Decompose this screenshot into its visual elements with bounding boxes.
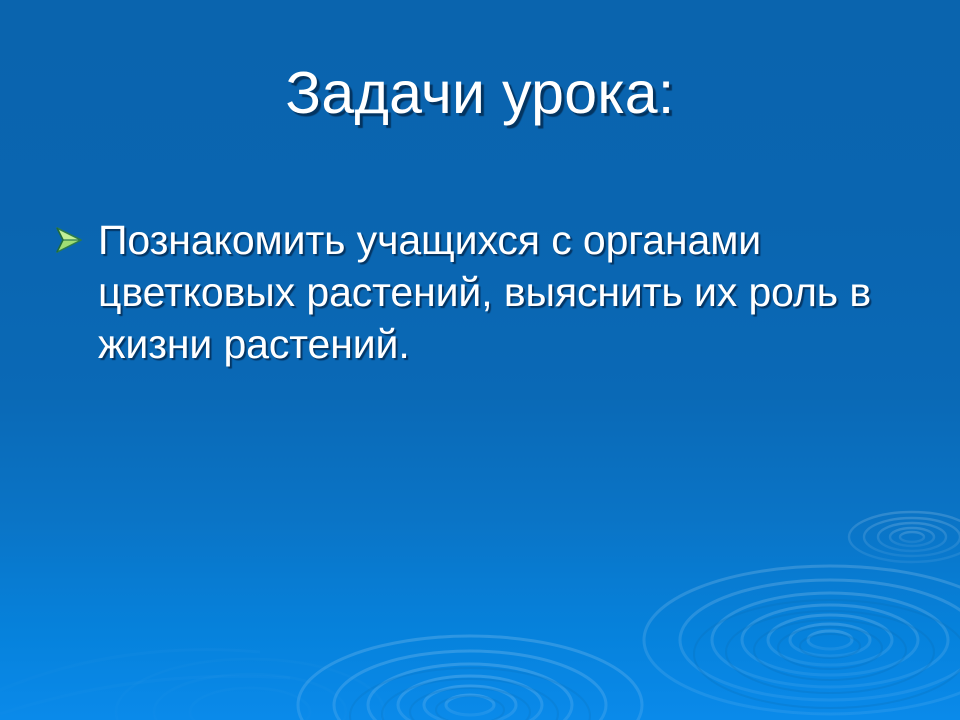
slide-title: Задачи урока: — [60, 62, 900, 125]
presentation-slide: Задачи урока: Познакомить учащихся с орг… — [0, 0, 960, 720]
slide-body: Познакомить учащихся с органами цветковы… — [54, 214, 914, 370]
green-arrowhead-bullet-icon — [54, 214, 98, 254]
list-item-label: Познакомить учащихся с органами цветковы… — [98, 214, 914, 370]
list-item: Познакомить учащихся с органами цветковы… — [54, 214, 914, 370]
